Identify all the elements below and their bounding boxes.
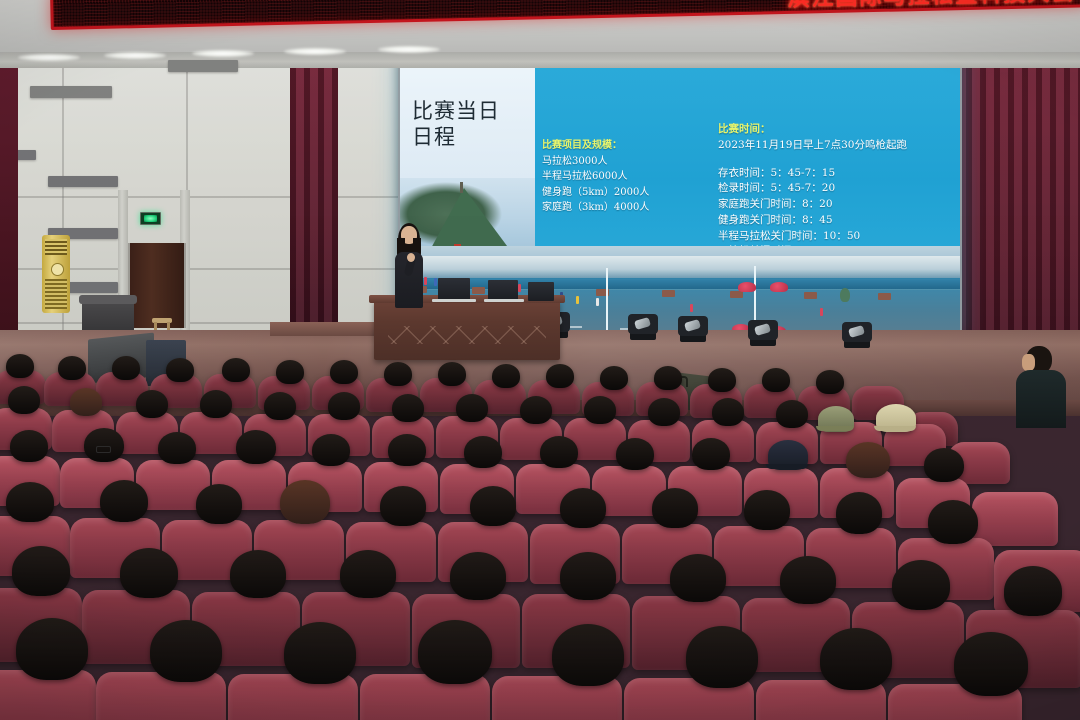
podium <box>374 300 560 360</box>
laptop-base <box>484 299 524 302</box>
attendee-head <box>560 552 616 600</box>
seat <box>96 672 226 720</box>
attendee-head <box>456 394 488 422</box>
attendee-head <box>222 358 250 382</box>
attendee-head <box>846 442 890 478</box>
attendee-head <box>58 356 86 380</box>
attendee-head <box>708 368 736 392</box>
attendee-head <box>196 484 242 524</box>
attendee-head <box>16 618 88 680</box>
slide-column-times: 比赛时间： 2023年11月19日早上7点30分鸣枪起跑 存衣时间：5：45-7… <box>718 122 962 260</box>
attendee-head <box>652 488 698 528</box>
attendee-head <box>136 390 168 418</box>
presenter <box>392 226 426 308</box>
laptop[interactable] <box>438 278 470 300</box>
events-item: 健身跑（5km）2000人 <box>542 185 692 201</box>
attendee-head <box>392 394 424 422</box>
moving-head-light <box>678 314 708 342</box>
attendee-head <box>464 436 502 468</box>
attendee-head <box>712 398 744 426</box>
attendee-head <box>762 368 790 392</box>
auditorium-screenshot: 比赛当日 日程 比赛项目及规模： 马拉松3000人 半程马拉松6000人 健身跑… <box>0 0 1080 720</box>
attendee-head <box>438 362 466 386</box>
attendee-head <box>280 480 330 524</box>
attendee-head <box>492 364 520 388</box>
attendee-head <box>340 550 396 598</box>
times-item: 半程马拉松关门时间：10：50 <box>718 229 962 245</box>
events-item: 家庭跑（3km）4000人 <box>542 200 692 216</box>
ac-vent-icon <box>45 279 67 309</box>
acoustic-strip <box>48 176 118 187</box>
attendee-head <box>8 386 40 414</box>
attendee-head <box>928 500 978 544</box>
attendee-head <box>744 490 790 530</box>
attendee-head <box>600 366 628 390</box>
attendee-head <box>230 550 286 598</box>
side-door[interactable] <box>128 243 186 328</box>
slide-title-line1: 比赛当日 <box>412 98 532 124</box>
times-item: 检录时间：5：45-7：20 <box>718 181 962 197</box>
attendee-head <box>892 560 950 610</box>
attendee-head <box>384 362 412 386</box>
times-heading: 比赛时间： <box>718 122 962 138</box>
attendee-head <box>450 552 506 600</box>
attendee-head <box>470 486 516 526</box>
attendee-head <box>12 546 70 596</box>
attendee-head <box>120 548 178 598</box>
attendee-head <box>312 434 350 466</box>
seat <box>972 492 1058 546</box>
attendee-head <box>1004 566 1062 616</box>
ac-grill-icon <box>45 239 67 255</box>
cap-brim <box>816 426 854 431</box>
attendee-head <box>330 360 358 384</box>
attendee-head <box>100 480 148 522</box>
stage-curtain-left <box>290 58 338 343</box>
emergency-exit-icon <box>140 212 161 225</box>
attendee-head <box>560 488 606 528</box>
attendee-head <box>616 438 654 470</box>
laptop[interactable] <box>528 282 554 301</box>
cap-brim <box>766 464 808 469</box>
times-subheading: 2023年11月19日早上7点30分鸣枪起跑 <box>718 138 962 154</box>
attendee-head <box>692 438 730 470</box>
ac-dial-icon <box>51 263 64 276</box>
podium-trim <box>388 326 546 344</box>
curtain-far-left <box>0 58 18 348</box>
attendee-head <box>276 360 304 384</box>
attendee-head <box>150 620 222 682</box>
events-heading: 比赛项目及规模： <box>542 138 692 154</box>
wall-seam <box>0 196 398 198</box>
attendee-head <box>584 396 616 424</box>
attendee-head <box>84 428 124 462</box>
slide-column-events: 比赛项目及规模： 马拉松3000人 半程马拉松6000人 健身跑（5km）200… <box>542 138 692 216</box>
air-conditioner-unit <box>42 235 70 313</box>
attendee-head <box>686 626 758 688</box>
attendee-head <box>816 370 844 394</box>
attendee-head <box>654 366 682 390</box>
attendee-head <box>648 398 680 426</box>
moving-head-light <box>748 318 778 346</box>
attendee-head <box>388 434 426 466</box>
laptop[interactable] <box>488 280 518 300</box>
attendee-head <box>264 392 296 420</box>
attendee-head <box>954 632 1028 696</box>
attendee-head <box>552 624 624 686</box>
times-item: 健身跑关门时间：8：45 <box>718 213 962 229</box>
attendee-head <box>418 620 492 684</box>
attendee-head <box>200 390 232 418</box>
moving-head-light <box>628 312 658 340</box>
attendee-head <box>540 436 578 468</box>
attendee-head <box>112 356 140 380</box>
attendee-head <box>284 622 356 684</box>
attendee-head <box>776 400 808 428</box>
slide-title: 比赛当日 日程 <box>412 98 532 151</box>
attendee-head <box>166 358 194 382</box>
cap-brim <box>874 426 916 431</box>
attendee-head <box>380 486 426 526</box>
attendee-head <box>670 554 726 602</box>
times-item: 存衣时间：5：45-7：15 <box>718 166 962 182</box>
attendee-head <box>158 432 196 464</box>
moving-head-light <box>842 320 872 348</box>
attendee-head <box>236 430 276 464</box>
attendee-head <box>6 354 34 378</box>
laptop-base <box>432 299 476 302</box>
events-item: 半程马拉松6000人 <box>542 169 692 185</box>
audience-seating <box>0 352 1080 720</box>
events-item: 马拉松3000人 <box>542 154 692 170</box>
attendee-head <box>820 628 892 690</box>
attendee-head <box>10 430 48 462</box>
attendee-head <box>70 388 102 416</box>
attendee-head <box>520 396 552 424</box>
attendee-head <box>836 492 882 534</box>
glasses-icon <box>96 446 111 453</box>
times-item: 家庭跑关门时间：8：20 <box>718 197 962 213</box>
attendee-head <box>6 482 54 522</box>
attendee-head <box>780 556 836 604</box>
attendee-head <box>546 364 574 388</box>
attendee-head <box>924 448 964 482</box>
slide-title-line2: 日程 <box>412 124 532 150</box>
attendee-head <box>328 392 360 420</box>
